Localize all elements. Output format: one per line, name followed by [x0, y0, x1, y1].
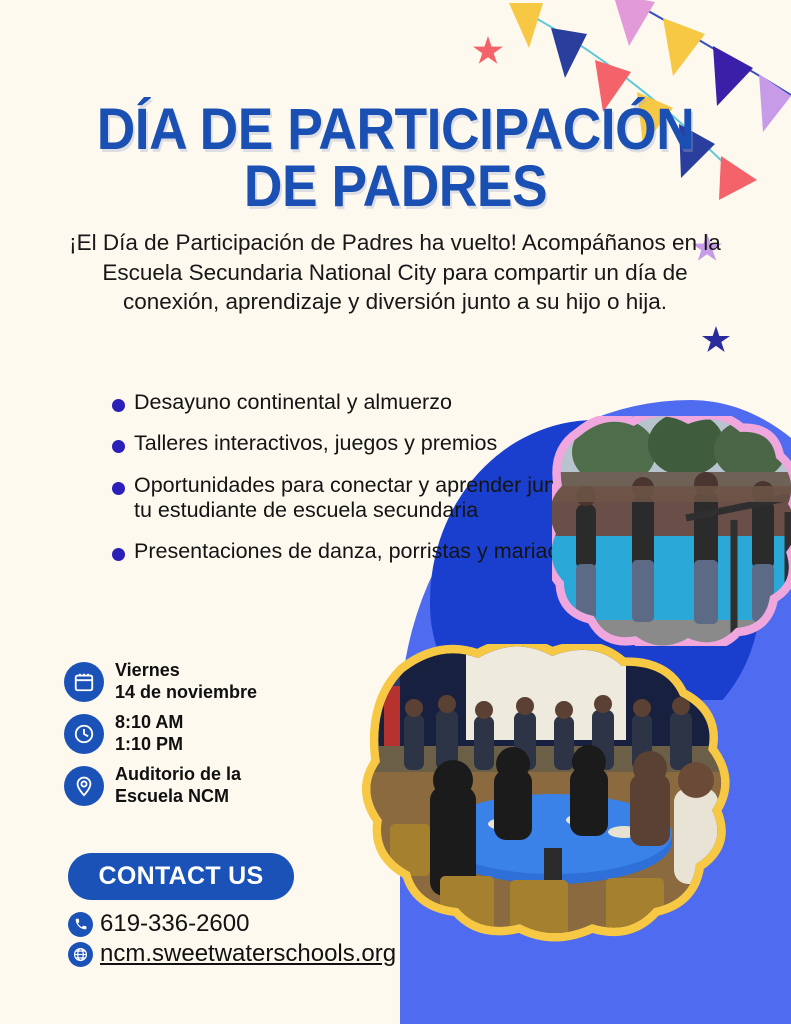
phone-number: 619-336-2600 [100, 910, 249, 938]
detail-date-text: Viernes 14 de noviembre [115, 660, 257, 704]
calendar-icon [64, 662, 104, 702]
detail-time-text: 8:10 AM 1:10 PM [115, 712, 183, 756]
clock-icon [64, 714, 104, 754]
contact-row-phone[interactable]: 619-336-2600 [68, 910, 396, 938]
title-line-2: DE PADRES [32, 159, 760, 216]
detail-row-date: Viernes 14 de noviembre [64, 660, 257, 704]
location-pin-icon [64, 766, 104, 806]
photo-dance-frame [552, 416, 791, 646]
event-details: Viernes 14 de noviembre 8:10 AM 1:10 PM … [64, 660, 257, 816]
flyer-poster: DÍA DE PARTICIPACIÓN DE PADRES ¡El Día d… [0, 0, 791, 1024]
list-item-label: Desayuno continental y almuerzo [134, 390, 452, 415]
title-line-1: DÍA DE PARTICIPACIÓN [32, 102, 760, 159]
detail-location-text: Auditorio de la Escuela NCM [115, 764, 241, 808]
contact-us-button[interactable]: CONTACT US [68, 853, 294, 900]
list-item: Desayuno continental y almuerzo [112, 390, 592, 415]
photo-cafeteria-frame [360, 644, 735, 944]
detail-row-time: 8:10 AM 1:10 PM [64, 712, 257, 756]
bullet-dot-icon [112, 548, 125, 561]
bullet-dot-icon [112, 399, 125, 412]
detail-row-location: Auditorio de la Escuela NCM [64, 764, 257, 808]
star-navy [702, 326, 730, 354]
bullet-dot-icon [112, 482, 125, 495]
bullet-dot-icon [112, 440, 125, 453]
website-url[interactable]: ncm.sweetwaterschools.org [100, 940, 396, 968]
photo-dance [552, 416, 791, 646]
list-item: Talleres interactivos, juegos y premios [112, 431, 592, 456]
phone-icon [68, 912, 93, 937]
photo-cafeteria [360, 644, 735, 944]
contact-info: 619-336-2600 ncm.sweetwaterschools.org [68, 910, 396, 970]
list-item: Oportunidades para conectar y aprender j… [112, 473, 592, 524]
globe-icon [68, 942, 93, 967]
poster-title: DÍA DE PARTICIPACIÓN DE PADRES [0, 102, 791, 216]
list-item-label: Oportunidades para conectar y aprender j… [134, 473, 592, 524]
benefits-list: Desayuno continental y almuerzo Talleres… [112, 390, 592, 581]
list-item-label: Presentaciones de danza, porristas y mar… [134, 539, 575, 564]
list-item: Presentaciones de danza, porristas y mar… [112, 539, 592, 564]
list-item-label: Talleres interactivos, juegos y premios [134, 431, 497, 456]
contact-row-website[interactable]: ncm.sweetwaterschools.org [68, 940, 396, 968]
intro-paragraph: ¡El Día de Participación de Padres ha vu… [60, 228, 730, 317]
photo-dance-image [552, 416, 791, 646]
